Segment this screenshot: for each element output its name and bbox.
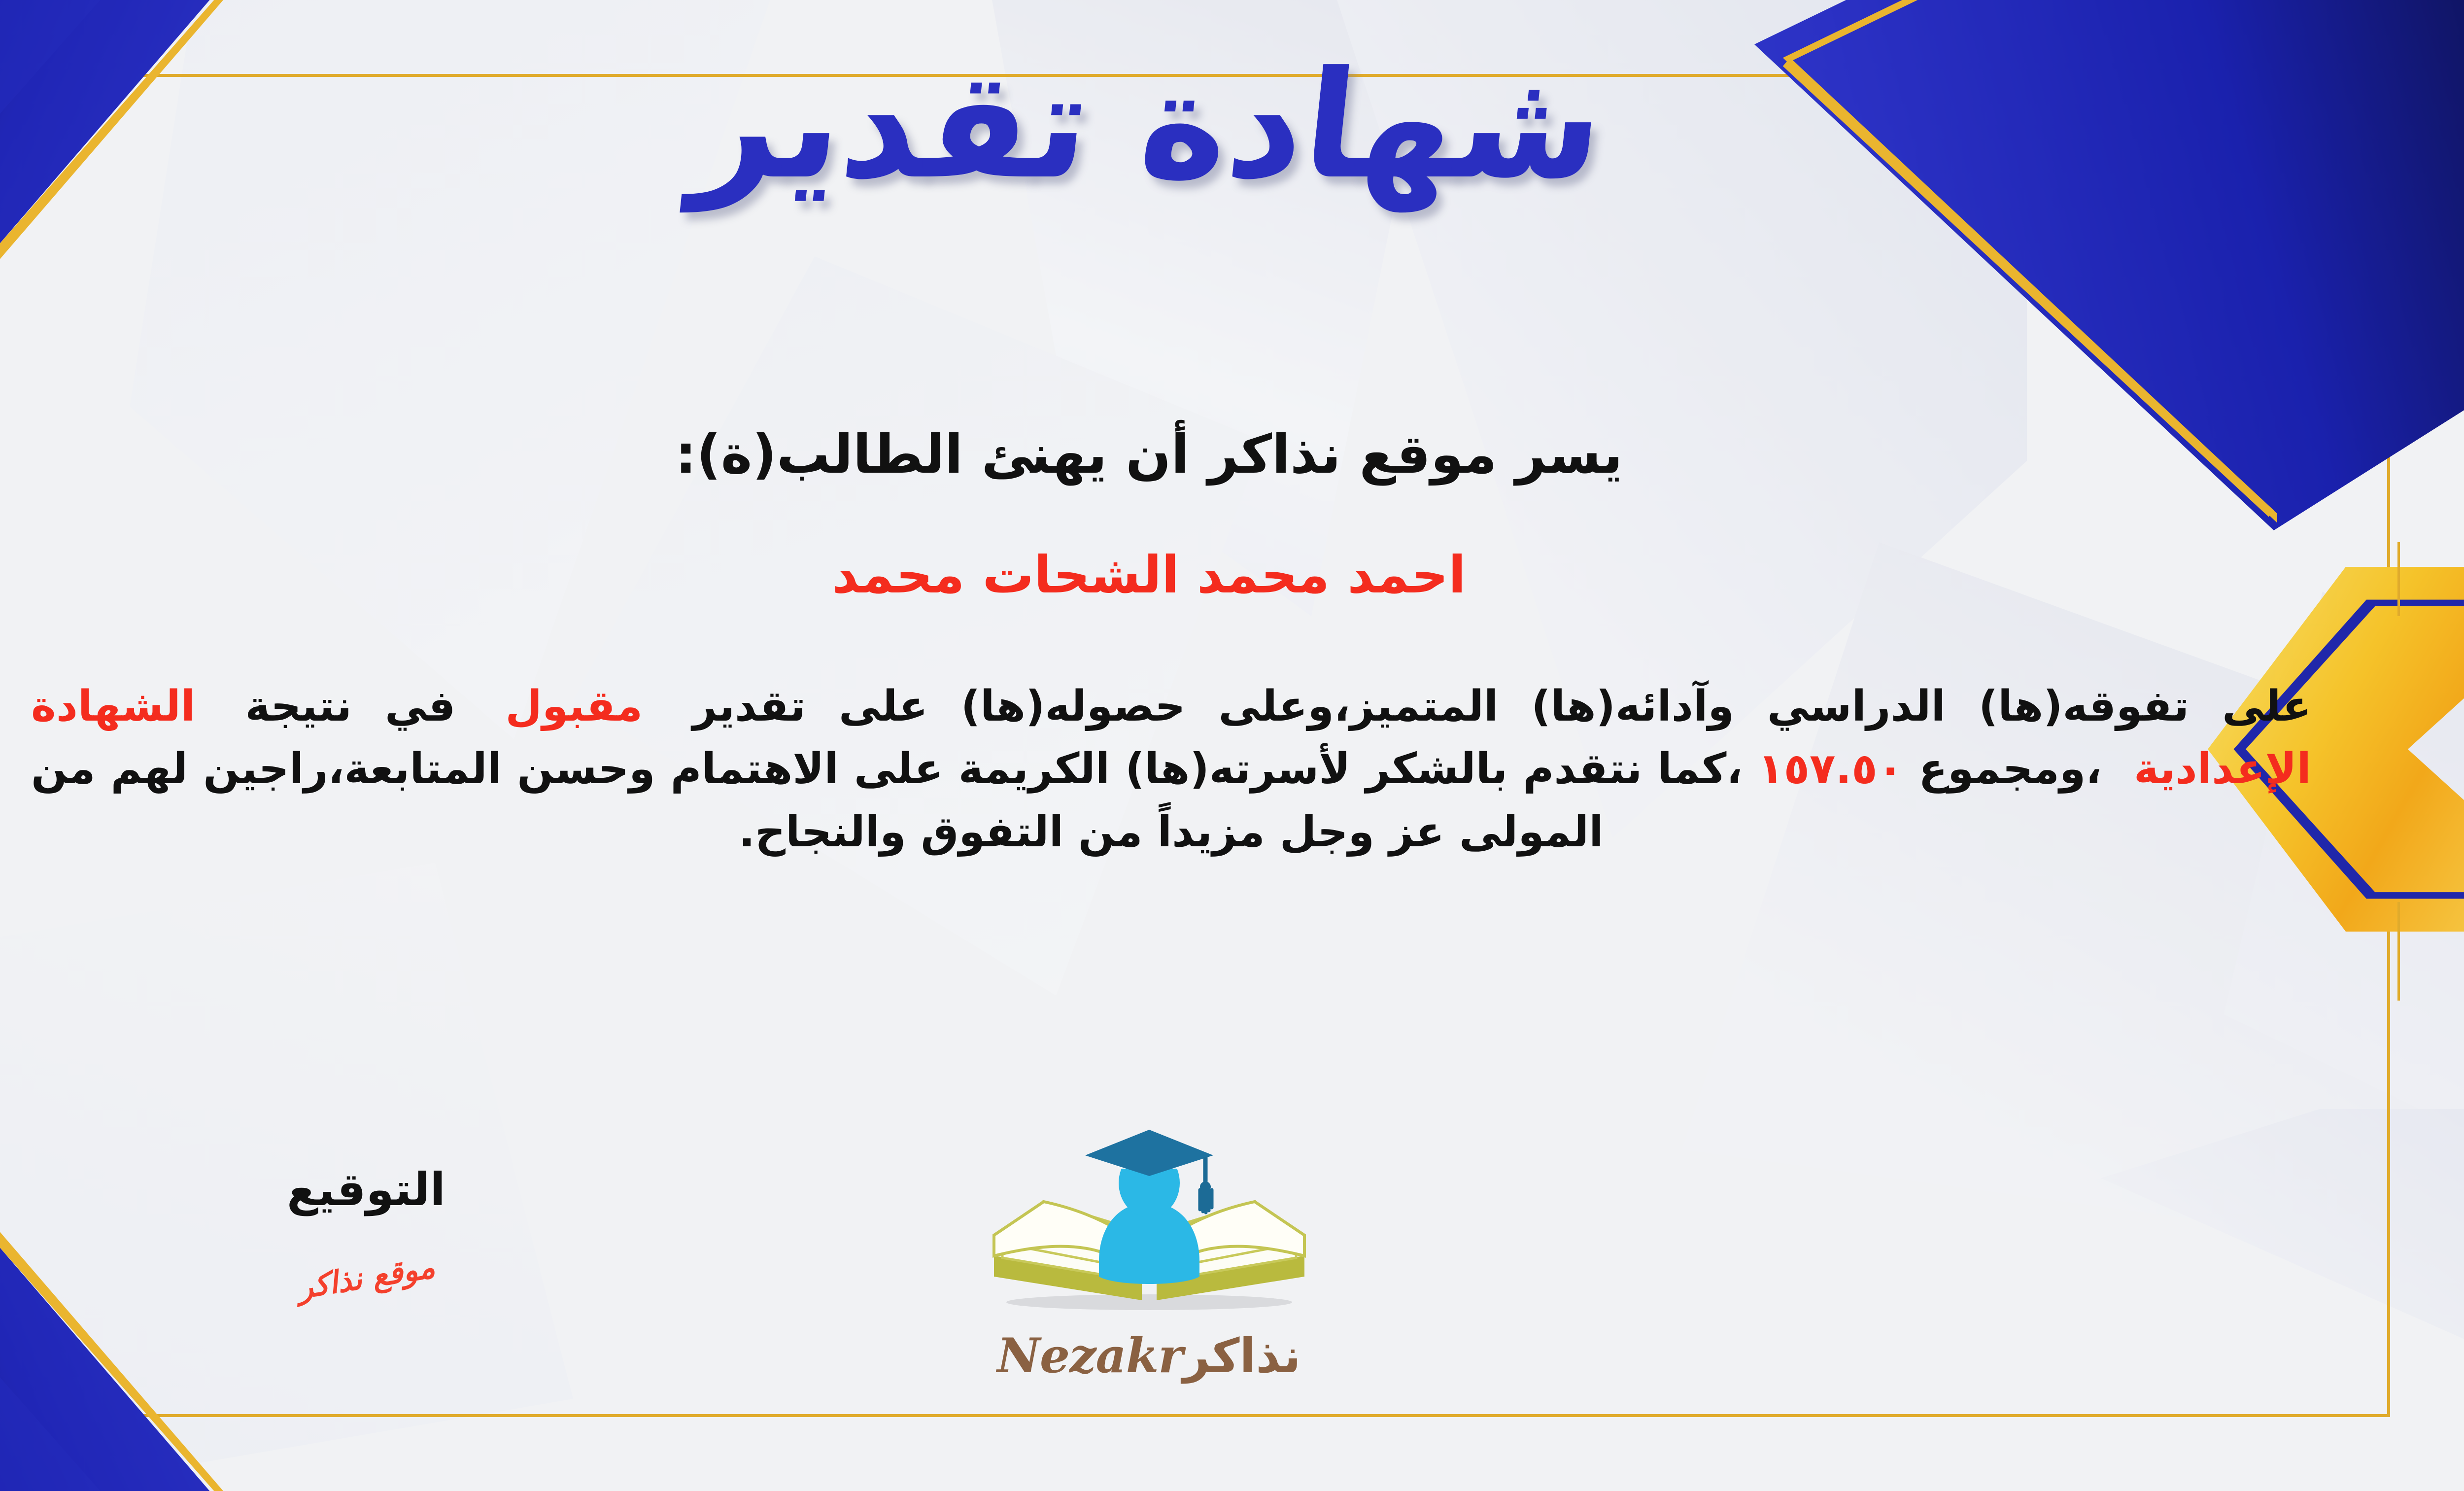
signature-block: التوقيع موقع نذاكر (228, 1163, 504, 1295)
citation-segment-3: ،ومجموع (1918, 744, 2102, 794)
citation-segment-1: على تفوقه(ها) الدراسي وآدائه(ها) المتميز… (692, 682, 2311, 731)
certificate-page: شهادة تقدير يسر موقع نذاكر أن يهنئ الطال… (0, 0, 2464, 1491)
citation-segment-4: ،كما نتقدم بالشكر لأسرته(ها) الكريمة على… (31, 744, 1743, 856)
page-title: شهادة تقدير (0, 52, 2464, 200)
brand-logo-block: نذاكرNezakr (947, 1129, 1351, 1384)
signature-label: التوقيع (228, 1163, 504, 1216)
brand-wordmark: نذاكرNezakr (947, 1328, 1351, 1384)
brand-arabic: نذاكر (1183, 1328, 1301, 1384)
graduate-book-icon (947, 1129, 1351, 1326)
grade-value: مقبول (488, 682, 659, 731)
greeting-line: يسر موقع نذاكر أن يهنئ الطالب(ة): (0, 424, 2464, 485)
student-name: احمد محمد الشحات محمد (0, 545, 2464, 605)
total-score: ١٥٧.٥٠ (1758, 744, 1903, 794)
citation-segment-2: في نتيجة (245, 682, 455, 731)
citation-paragraph: على تفوقه(ها) الدراسي وآدائه(ها) المتميز… (31, 675, 2311, 864)
signature-script: موقع نذاكر (227, 1238, 506, 1317)
certificate-content: شهادة تقدير يسر موقع نذاكر أن يهنئ الطال… (0, 0, 2464, 1491)
brand-latin: Nezakr (997, 1328, 1183, 1384)
